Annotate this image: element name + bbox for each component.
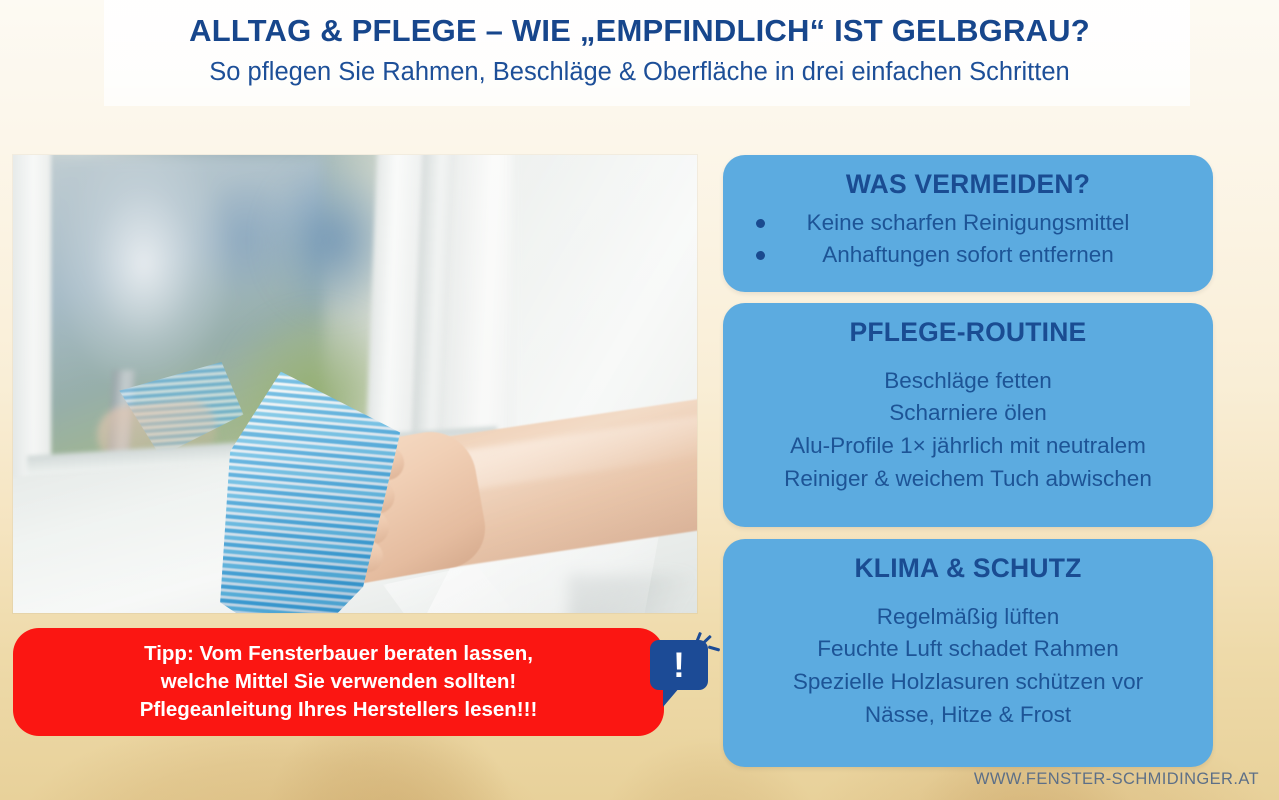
tip-callout: Tipp: Vom Fensterbauer beraten lassen, w… — [13, 628, 664, 736]
page-title: ALLTAG & PFLEGE – WIE „EMPFINDLICH“ IST … — [0, 12, 1279, 51]
exclamation-mark-glyph: ! — [650, 640, 708, 690]
card-line: Spezielle Holzlasuren schützen vor — [739, 666, 1197, 699]
tip-line: Tipp: Vom Fensterbauer beraten lassen, — [144, 640, 533, 668]
list-item-label: Keine scharfen Reinigungsmittel — [807, 210, 1130, 235]
speech-bubble-tail — [663, 687, 680, 707]
bullet-dot-icon — [756, 219, 765, 228]
list-item: Keine scharfen Reinigungsmittel — [739, 207, 1197, 240]
exclamation-speech-bubble-icon: ! — [650, 632, 716, 708]
card-line: Reiniger & weichem Tuch abwischen — [739, 463, 1197, 496]
bullet-dot-icon — [756, 251, 765, 260]
card-body-klima-und-schutz: Regelmäßig lüften Feuchte Luft schadet R… — [739, 601, 1197, 732]
list-item: Anhaftungen sofort entfernen — [739, 239, 1197, 272]
card-line: Alu-Profile 1× jährlich mit neutralem — [739, 430, 1197, 463]
card-line: Feuchte Luft schadet Rahmen — [739, 633, 1197, 666]
header: ALLTAG & PFLEGE – WIE „EMPFINDLICH“ IST … — [0, 12, 1279, 89]
card-line: Scharniere ölen — [739, 397, 1197, 430]
page-subtitle: So pflegen Sie Rahmen, Beschläge & Oberf… — [0, 57, 1279, 89]
tip-line: welche Mittel Sie verwenden sollten! — [161, 668, 516, 696]
footer-website-url: WWW.FENSTER-SCHMIDINGER.AT — [974, 770, 1259, 789]
spark-line-icon — [708, 645, 720, 651]
card-pflege-routine: PFLEGE-ROUTINE Beschläge fetten Scharnie… — [723, 303, 1213, 527]
tip-line: Pflegeanleitung Ihres Herstellers lesen!… — [140, 696, 538, 724]
card-line: Beschläge fetten — [739, 365, 1197, 398]
card-title-klima-und-schutz: KLIMA & SCHUTZ — [739, 553, 1197, 585]
card-line: Regelmäßig lüften — [739, 601, 1197, 634]
slide-canvas: ALLTAG & PFLEGE – WIE „EMPFINDLICH“ IST … — [0, 0, 1279, 800]
card-klima-und-schutz: KLIMA & SCHUTZ Regelmäßig lüften Feuchte… — [723, 539, 1213, 767]
window-cleaning-photo — [13, 155, 697, 613]
card-title-pflege-routine: PFLEGE-ROUTINE — [739, 317, 1197, 349]
card-bullet-list-was-vermeiden: Keine scharfen Reinigungsmittel Anhaftun… — [739, 207, 1197, 272]
photo-tint-overlay — [13, 155, 697, 613]
card-title-was-vermeiden: WAS VERMEIDEN? — [739, 169, 1197, 201]
card-was-vermeiden: WAS VERMEIDEN? Keine scharfen Reinigungs… — [723, 155, 1213, 292]
card-body-pflege-routine: Beschläge fetten Scharniere ölen Alu-Pro… — [739, 365, 1197, 496]
list-item-label: Anhaftungen sofort entfernen — [822, 242, 1113, 267]
card-line: Nässe, Hitze & Frost — [739, 699, 1197, 732]
